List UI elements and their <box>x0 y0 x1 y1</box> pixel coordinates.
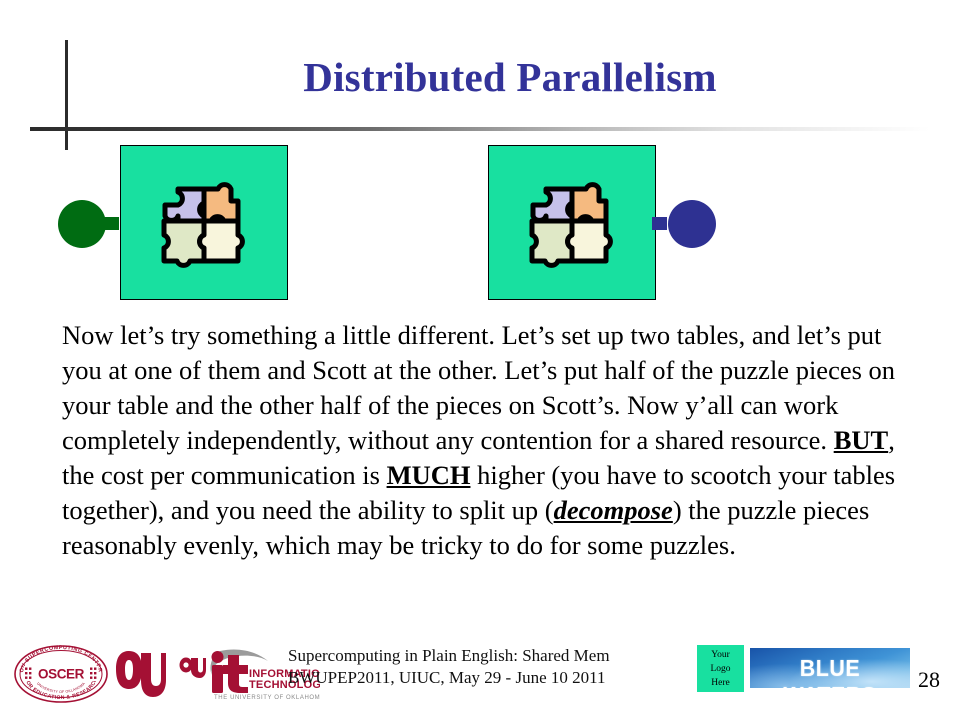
footer-conference-text: Supercomputing in Plain English: Shared … <box>288 645 678 689</box>
your-logo-line-1: Your <box>697 648 744 662</box>
person-scott-arm-icon <box>652 217 667 230</box>
your-logo-here-placeholder: Your Logo Here <box>697 645 744 692</box>
header-horizontal-rule <box>30 127 930 131</box>
person-you-arm-icon <box>104 217 119 230</box>
ou-logo <box>115 645 167 703</box>
person-you-icon <box>58 200 106 248</box>
puzzle-pieces-right-icon <box>524 173 620 273</box>
blue-waters-logo: BLUE WATERS <box>750 648 910 688</box>
body-emphasis-decompose: decompose <box>554 495 673 525</box>
person-scott-icon <box>668 200 716 248</box>
footer-logo-group: OU SUPERCOMPUTING CENTER FOR EDUCATION &… <box>12 642 320 706</box>
puzzle-pieces-left-icon <box>156 173 252 273</box>
table-left <box>120 145 288 300</box>
table-right <box>488 145 656 300</box>
blue-waters-text: BLUE WATERS <box>756 655 905 688</box>
page-title: Distributed Parallelism <box>120 55 900 100</box>
body-part-1: Now let’s try something a little differe… <box>62 320 895 455</box>
slide-number: 28 <box>918 667 940 693</box>
header-vertical-rule <box>65 40 68 150</box>
footer-line-2: BWUPEP2011, UIUC, May 29 - June 10 2011 <box>288 667 678 689</box>
slide-body-text: Now let’s try something a little differe… <box>62 318 908 563</box>
oscer-seal-icon: OU SUPERCOMPUTING CENTER FOR EDUCATION &… <box>12 644 110 704</box>
footer-line-1: Supercomputing in Plain English: Shared … <box>288 645 678 667</box>
ou-it-line3: THE UNIVERSITY OF OKLAHOMA <box>214 695 320 701</box>
your-logo-line-3: Here <box>697 676 744 690</box>
oscer-center-text: OSCER <box>38 667 85 682</box>
body-emphasis-much: MUCH <box>387 460 471 490</box>
distributed-parallelism-diagram <box>0 140 960 310</box>
your-logo-line-2: Logo <box>697 662 744 676</box>
ou-monogram-icon <box>115 645 167 703</box>
body-emphasis-but: BUT <box>834 425 889 455</box>
oscer-logo: OU SUPERCOMPUTING CENTER FOR EDUCATION &… <box>12 644 110 704</box>
